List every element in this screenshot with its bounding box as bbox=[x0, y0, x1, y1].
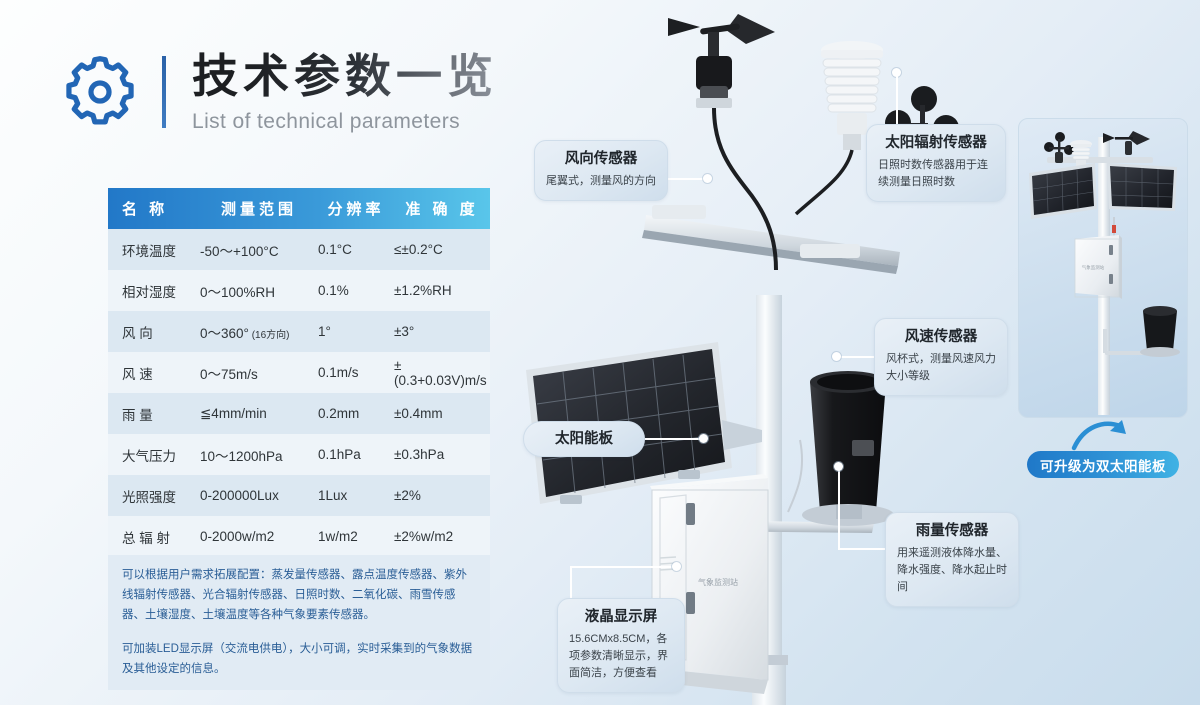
cell-range: -50〜+100°C bbox=[200, 240, 318, 260]
anchor-dot-wind-direction bbox=[703, 174, 712, 183]
table-row: 风 向0〜360° (16方向)1°±3° bbox=[108, 311, 490, 352]
callout-desc: 尾翼式，测量风的方向 bbox=[546, 173, 656, 190]
column-header-name: 名 称 bbox=[108, 198, 200, 219]
dual-solar-panel-inset[interactable]: 气象监测站 bbox=[1018, 118, 1188, 418]
callout-desc: 风杯式，测量风速风力大小等级 bbox=[886, 351, 996, 385]
callout-title: 太阳辐射传感器 bbox=[878, 134, 994, 152]
table-row: 大气压力10〜1200hPa0.1hPa±0.3hPa bbox=[108, 434, 490, 475]
cell-resolution: 1Lux bbox=[318, 488, 394, 503]
cell-name: 光照强度 bbox=[108, 486, 200, 506]
page-title: 技术参数一览 bbox=[192, 52, 498, 102]
cell-range: 0〜75m/s bbox=[200, 363, 318, 383]
cell-name: 大气压力 bbox=[108, 445, 200, 465]
cell-name: 风 向 bbox=[108, 322, 200, 342]
cell-range: 10〜1200hPa bbox=[200, 445, 318, 465]
table-row: 风 速0〜75m/s0.1m/s±(0.3+0.03V)m/s bbox=[108, 352, 490, 393]
callout-lcd-display[interactable]: 液晶显示屏 15.6CMx8.5CM，各项参数清晰显示，界面简洁，方便查看 bbox=[557, 598, 685, 693]
table-row: 总 辐 射0-2000w/m21w/m2±2%w/m2 bbox=[108, 516, 490, 557]
callout-title: 风速传感器 bbox=[886, 328, 996, 346]
cell-name: 风 速 bbox=[108, 363, 200, 383]
cell-accuracy: ±2% bbox=[394, 488, 490, 503]
cell-name: 总 辐 射 bbox=[108, 527, 200, 547]
cell-accuracy: ±0.4mm bbox=[394, 406, 490, 421]
callout-desc: 日照时数传感器用于连续测量日照时数 bbox=[878, 157, 994, 191]
cell-range: 0〜100%RH bbox=[200, 281, 318, 301]
cell-accuracy: ±(0.3+0.03V)m/s bbox=[394, 358, 490, 388]
callout-solar-radiation[interactable]: 太阳辐射传感器 日照时数传感器用于连续测量日照时数 bbox=[866, 124, 1006, 202]
callout-wind-speed[interactable]: 风速传感器 风杯式，测量风速风力大小等级 bbox=[874, 318, 1008, 396]
callout-rain-gauge[interactable]: 雨量传感器 用来遥测液体降水量、降水强度、降水起止时间 bbox=[885, 512, 1019, 607]
note-led-display: 可加装LED显示屏（交流电供电），大小可调，实时采集到的气象数据及其他设定的信息… bbox=[108, 629, 490, 690]
column-header-range: 测量范围 bbox=[200, 198, 318, 219]
callout-title: 液晶显示屏 bbox=[569, 608, 673, 626]
leader-line-lcd-v bbox=[570, 566, 572, 598]
cell-accuracy: ±0.3hPa bbox=[394, 447, 490, 462]
cell-accuracy: ±1.2%RH bbox=[394, 283, 490, 298]
table-body: 环境温度-50〜+100°C0.1°C≤±0.2°C相对湿度0〜100%RH0.… bbox=[108, 229, 490, 557]
cell-accuracy: ±3° bbox=[394, 324, 490, 339]
callout-desc: 用来遥测液体降水量、降水强度、降水起止时间 bbox=[897, 545, 1007, 596]
leader-line-wind-speed bbox=[838, 356, 874, 358]
page-header: 技术参数一览 List of technical parameters bbox=[62, 50, 498, 134]
cell-resolution: 0.1% bbox=[318, 283, 394, 298]
anchor-dot-lcd bbox=[672, 562, 681, 571]
cell-name: 雨 量 bbox=[108, 404, 200, 424]
cell-resolution: 1w/m2 bbox=[318, 529, 394, 544]
column-header-resolution: 分辨率 bbox=[318, 198, 394, 219]
cell-range: ≦4mm/min bbox=[200, 406, 318, 422]
cell-resolution: 1° bbox=[318, 324, 394, 339]
anchor-dot-solar-panel bbox=[699, 434, 708, 443]
cell-accuracy: ±2%w/m2 bbox=[394, 529, 490, 544]
curved-arrow-up-icon bbox=[1070, 418, 1130, 452]
svg-text:气象监测站: 气象监测站 bbox=[1082, 264, 1105, 271]
cell-range: 0〜360° (16方向) bbox=[200, 322, 318, 342]
leader-line-lcd bbox=[570, 566, 676, 568]
leader-line-rain bbox=[838, 548, 886, 550]
cell-name: 相对湿度 bbox=[108, 281, 200, 301]
callout-solar-panel[interactable]: 太阳能板 bbox=[523, 421, 645, 457]
callout-title: 太阳能板 bbox=[555, 430, 613, 448]
callout-desc: 15.6CMx8.5CM，各项参数清晰显示，界面简洁，方便查看 bbox=[569, 631, 673, 682]
table-row: 雨 量≦4mm/min0.2mm±0.4mm bbox=[108, 393, 490, 434]
callout-title: 雨量传感器 bbox=[897, 522, 1007, 540]
table-row: 相对湿度0〜100%RH0.1%±1.2%RH bbox=[108, 270, 490, 311]
leader-line-rain-v bbox=[838, 466, 840, 548]
column-header-accuracy: 准 确 度 bbox=[394, 198, 490, 219]
anchor-dot-rain bbox=[834, 462, 843, 471]
leader-line-solar-radiation-2 bbox=[896, 72, 898, 132]
cell-resolution: 0.1°C bbox=[318, 242, 394, 257]
callout-wind-direction[interactable]: 风向传感器 尾翼式，测量风的方向 bbox=[534, 140, 668, 201]
upgrade-badge[interactable]: 可升级为双太阳能板 bbox=[1027, 451, 1179, 478]
table-row: 环境温度-50〜+100°C0.1°C≤±0.2°C bbox=[108, 229, 490, 270]
cell-range: 0-200000Lux bbox=[200, 488, 318, 503]
cell-range: 0-2000w/m2 bbox=[200, 529, 318, 544]
cell-name: 环境温度 bbox=[108, 240, 200, 260]
table-row: 光照强度0-200000Lux1Lux±2% bbox=[108, 475, 490, 516]
cell-accuracy: ≤±0.2°C bbox=[394, 242, 490, 257]
callout-title: 风向传感器 bbox=[546, 150, 656, 168]
cell-range-note: (16方向) bbox=[249, 330, 290, 341]
page-subtitle: List of technical parameters bbox=[192, 110, 498, 134]
table-header-row: 名 称 测量范围 分辨率 准 确 度 bbox=[108, 188, 490, 229]
anchor-dot-wind-speed bbox=[832, 352, 841, 361]
cabinet-label: 气象监测站 bbox=[698, 577, 738, 587]
dual-panel-illustration: 气象监测站 bbox=[1019, 119, 1188, 418]
leader-line-wind-direction bbox=[668, 178, 708, 180]
note-expandable-sensors: 可以根据用户需求拓展配置：蒸发量传感器、露点温度传感器、紫外线辐射传感器、光合辐… bbox=[108, 555, 490, 636]
title-divider bbox=[162, 56, 166, 128]
leader-line-solar-panel bbox=[645, 438, 703, 440]
gear-icon bbox=[62, 54, 138, 130]
cell-resolution: 0.1hPa bbox=[318, 447, 394, 462]
cell-resolution: 0.1m/s bbox=[318, 365, 394, 380]
spec-table: 名 称 测量范围 分辨率 准 确 度 环境温度-50〜+100°C0.1°C≤±… bbox=[108, 188, 490, 557]
cell-resolution: 0.2mm bbox=[318, 406, 394, 421]
